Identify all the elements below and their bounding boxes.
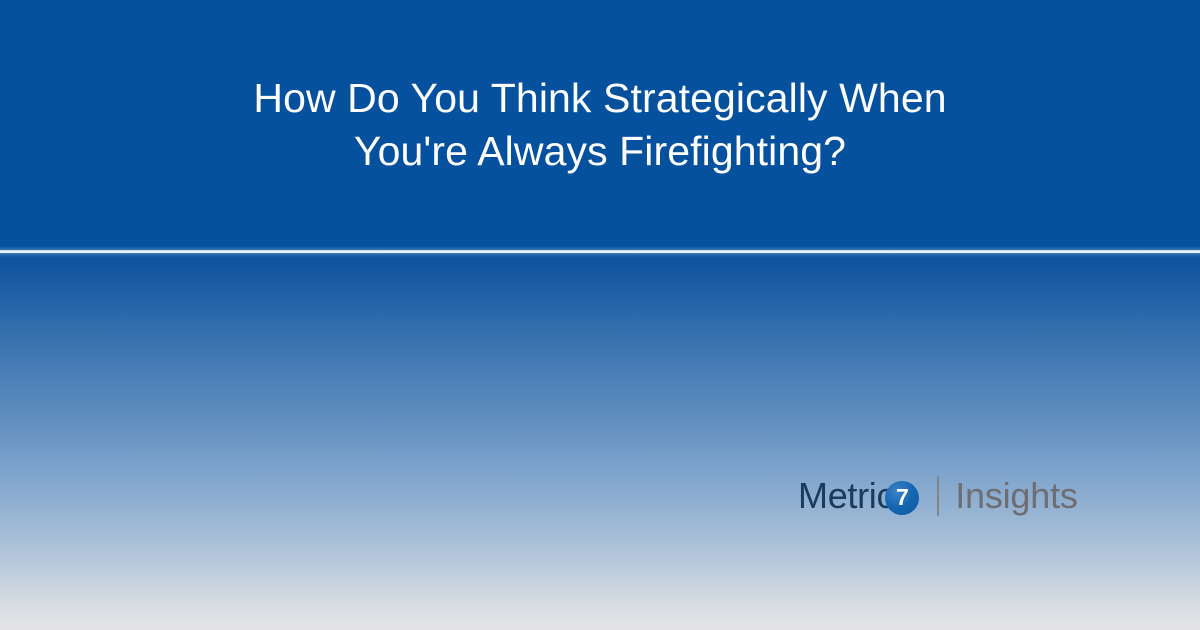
page-title: How Do You Think Strategically When You'… (0, 72, 1200, 179)
logo-badge-number: 7 (896, 486, 908, 510)
logo-divider (937, 476, 939, 516)
logo-seven-badge-icon: 7 (885, 481, 919, 515)
logo-product-word: Insights (955, 478, 1077, 514)
title-card: How Do You Think Strategically When You'… (0, 0, 1200, 630)
title-container: How Do You Think Strategically When You'… (0, 0, 1200, 250)
body-gradient-panel (0, 254, 1200, 630)
brand-logo: Metric 7 Insights (798, 470, 1078, 522)
header-divider-line (0, 250, 1200, 253)
logo-brand-word: Metric (798, 478, 894, 514)
